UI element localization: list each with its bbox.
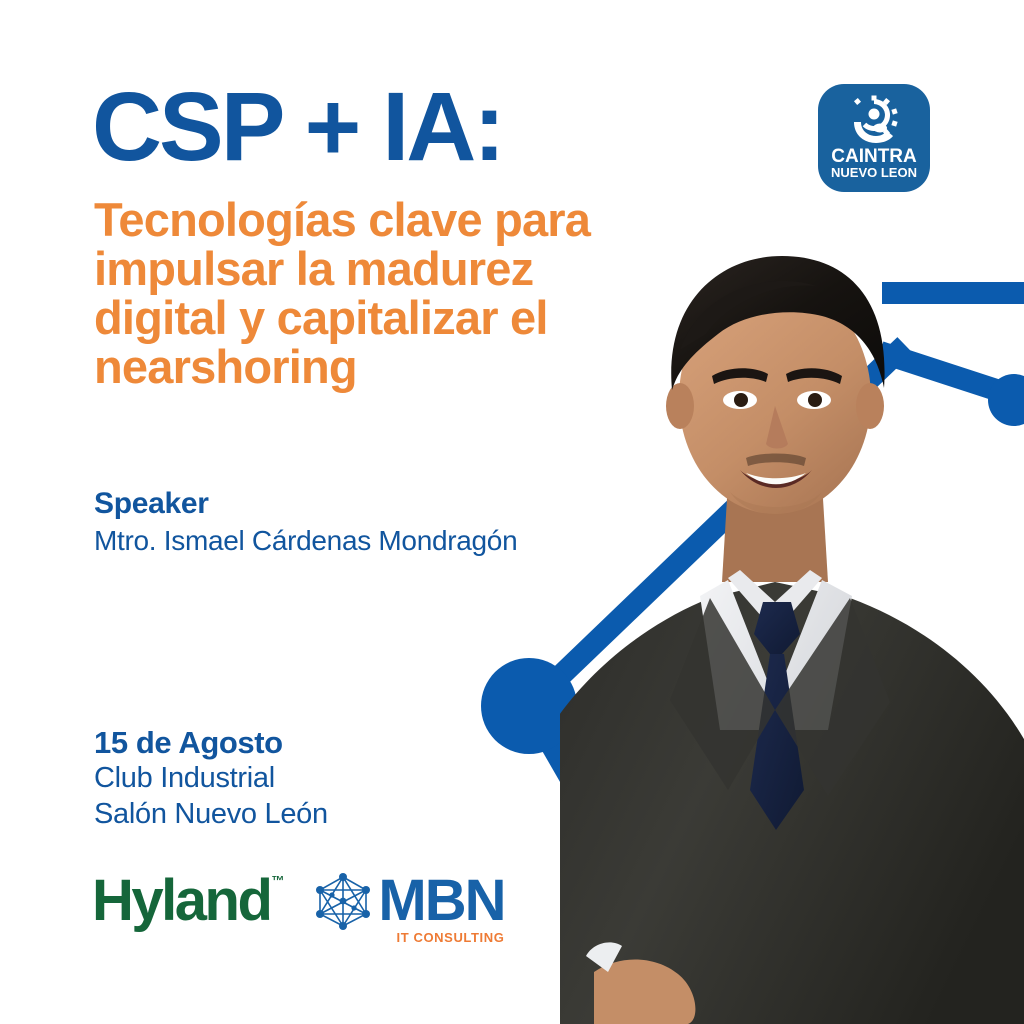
mbn-tagline: IT CONSULTING	[397, 930, 505, 945]
event-venue: Club Industrial	[94, 761, 328, 796]
mbn-logo: MBN IT CONSULTING	[312, 870, 504, 932]
event-room: Salón Nuevo León	[94, 797, 328, 832]
speaker-block: Speaker Mtro. Ismael Cárdenas Mondragón	[94, 487, 517, 557]
mbn-wordmark: MBN	[378, 872, 504, 930]
caintra-line2: NUEVO LEON	[818, 166, 930, 179]
trademark-icon: ™	[271, 874, 284, 887]
speaker-name: Mtro. Ismael Cárdenas Mondragón	[94, 524, 517, 558]
speaker-label: Speaker	[94, 487, 517, 522]
sponsor-logos: Hyland ™	[92, 866, 504, 936]
network-nodes-icon	[312, 870, 374, 932]
poster-title: CSP + IA:	[92, 78, 503, 175]
event-details: 15 de Agosto Club Industrial Salón Nuevo…	[94, 724, 328, 832]
hyland-logo: Hyland ™	[92, 872, 270, 930]
poster-content: CSP + IA: Tecnologías clave para impulsa…	[0, 0, 700, 1024]
event-poster: CAINTRA NUEVO LEON CSP + IA: Tecnologías…	[0, 0, 1024, 1024]
mbn-text-block: MBN IT CONSULTING	[378, 872, 504, 930]
caintra-logo: CAINTRA NUEVO LEON	[818, 84, 930, 192]
caintra-line1: CAINTRA	[818, 147, 930, 166]
hyland-wordmark: Hyland	[92, 868, 270, 933]
poster-subtitle: Tecnologías clave para impulsar la madur…	[94, 196, 594, 392]
event-date: 15 de Agosto	[94, 724, 328, 761]
gear-hand-icon	[846, 95, 902, 145]
